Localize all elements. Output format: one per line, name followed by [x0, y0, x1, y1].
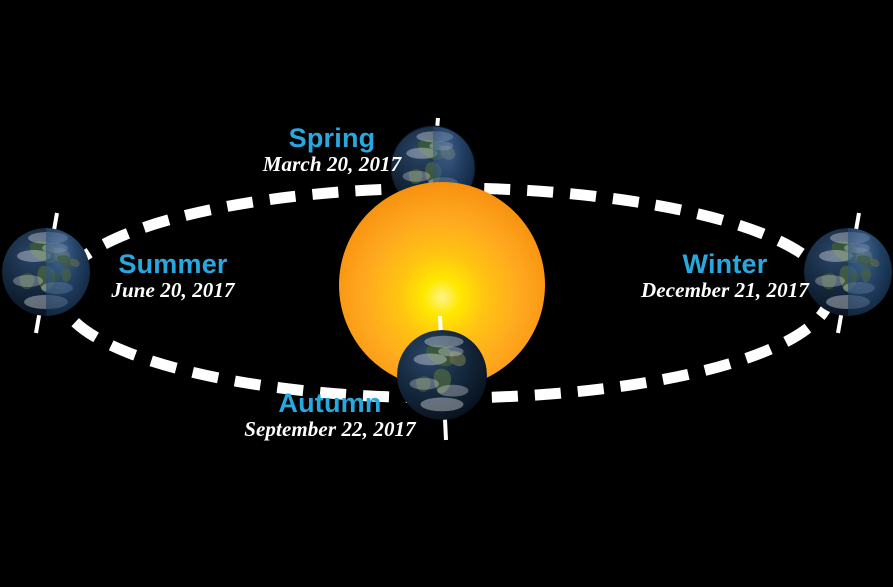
season-name-autumn: Autumn — [145, 389, 515, 418]
label-spring: Spring March 20, 2017 — [167, 124, 497, 175]
seasons-diagram: Spring March 20, 2017 Summer June 20, 20… — [0, 0, 893, 587]
label-winter: Winter December 21, 2017 — [570, 250, 880, 301]
season-name-spring: Spring — [167, 124, 497, 153]
season-date-autumn: September 22, 2017 — [145, 418, 515, 440]
season-date-summer: June 20, 2017 — [18, 279, 328, 301]
season-name-summer: Summer — [18, 250, 328, 279]
season-name-winter: Winter — [570, 250, 880, 279]
label-autumn: Autumn September 22, 2017 — [145, 389, 515, 440]
season-date-spring: March 20, 2017 — [167, 153, 497, 175]
label-summer: Summer June 20, 2017 — [18, 250, 328, 301]
season-date-winter: December 21, 2017 — [570, 279, 880, 301]
